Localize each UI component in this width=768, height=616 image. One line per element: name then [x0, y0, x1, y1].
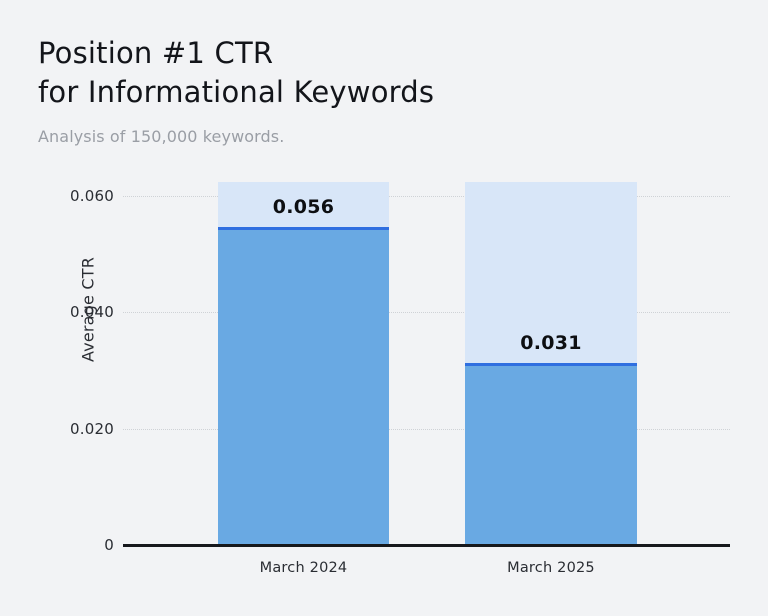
chart-header: Position #1 CTR for Informational Keywor… — [38, 34, 638, 147]
y-tick-label-0: 0 — [50, 536, 114, 554]
x-tick-label-march-2024: March 2024 — [218, 560, 389, 576]
bar-value-label-march-2024: 0.056 — [218, 196, 389, 218]
gridline-020 — [123, 429, 730, 430]
bar-group-march-2024[interactable]: 0.056 — [218, 182, 389, 545]
bar-value-label-march-2025: 0.031 — [465, 332, 637, 354]
x-axis-line — [123, 544, 730, 547]
chart-subtitle: Analysis of 150,000 keywords. — [38, 127, 638, 147]
gridline-060 — [123, 196, 730, 197]
x-tick-label-march-2025: March 2025 — [465, 560, 637, 576]
plot-area: 0.056 0.031 — [123, 182, 730, 545]
bar-cap-march-2025 — [465, 363, 637, 366]
bar-fill-march-2024 — [218, 230, 389, 545]
chart-canvas: Position #1 CTR for Informational Keywor… — [0, 0, 768, 616]
y-tick-label-020: 0.020 — [50, 420, 114, 438]
bar-group-march-2025[interactable]: 0.031 — [465, 182, 637, 545]
y-axis-tick-labels: 0.060 0.040 0.020 0 — [42, 0, 114, 616]
y-tick-label-060: 0.060 — [50, 187, 114, 205]
bar-fill-march-2025 — [465, 366, 637, 545]
chart-title: Position #1 CTR for Informational Keywor… — [38, 34, 638, 112]
gridline-040 — [123, 312, 730, 313]
bar-cap-march-2024 — [218, 227, 389, 230]
y-tick-label-040: 0.040 — [50, 303, 114, 321]
